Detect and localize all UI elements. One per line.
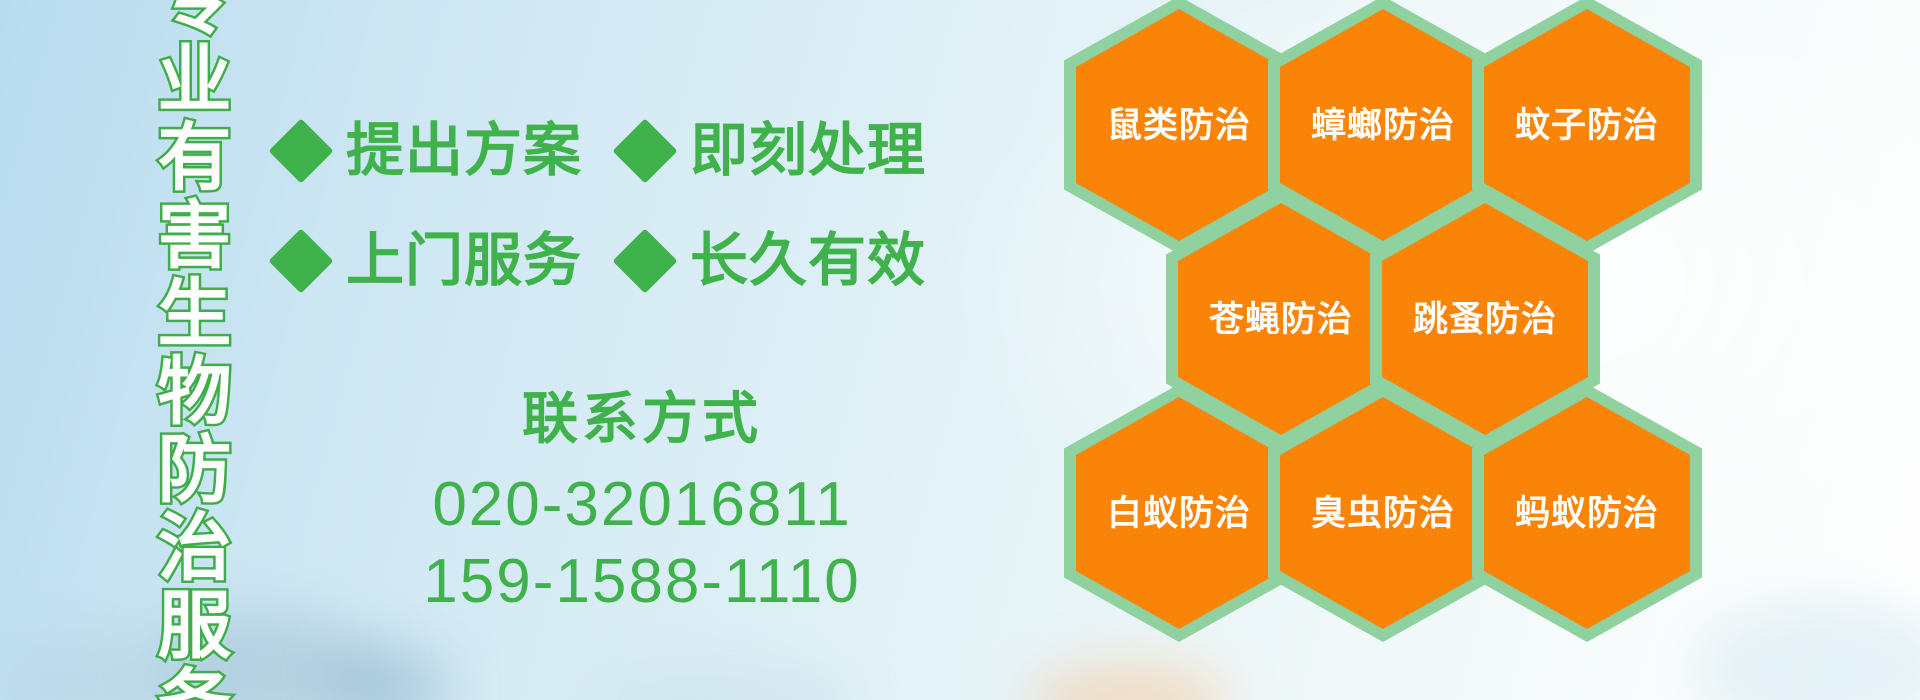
feature-item-long-lasting-effect: 长久有效 bbox=[622, 232, 926, 290]
service-label: 苍蝇防治 bbox=[1209, 302, 1353, 337]
feature-item-propose-plan: 提出方案 bbox=[278, 122, 582, 180]
hex-inner: 蟑螂防治 bbox=[1280, 9, 1486, 241]
feature-row-2: 上门服务 长久有效 bbox=[278, 206, 878, 316]
hex-inner: 鼠类防治 bbox=[1076, 9, 1282, 241]
feature-item-door-to-door-service: 上门服务 bbox=[278, 232, 582, 290]
service-label: 蟑螂防治 bbox=[1311, 108, 1455, 143]
feature-label: 长久有效 bbox=[690, 232, 926, 290]
hex-inner: 白蚁防治 bbox=[1076, 397, 1282, 629]
hex-inner: 蚊子防治 bbox=[1484, 9, 1690, 241]
feature-label: 上门服务 bbox=[346, 232, 582, 290]
diamond-icon bbox=[268, 228, 333, 293]
hex-inner: 苍蝇防治 bbox=[1178, 203, 1384, 435]
service-label: 蚂蚁防治 bbox=[1515, 496, 1659, 531]
contact-title: 联系方式 bbox=[352, 388, 932, 450]
background-bokeh-blob bbox=[330, 648, 450, 700]
service-label: 跳蚤防治 bbox=[1413, 302, 1557, 337]
diamond-icon bbox=[612, 228, 677, 293]
phone-mobile[interactable]: 159-1588-1110 bbox=[352, 543, 932, 621]
hex-inner: 臭虫防治 bbox=[1280, 397, 1486, 629]
feature-list: 提出方案 即刻处理 上门服务 长久有效 bbox=[278, 96, 878, 316]
diamond-icon bbox=[268, 118, 333, 183]
background-bokeh-blob bbox=[600, 668, 860, 700]
service-label: 臭虫防治 bbox=[1311, 496, 1455, 531]
vertical-headline: 专业有害生物防治服务 bbox=[118, 18, 226, 686]
service-honeycomb: 鼠类防治 蟑螂防治 蚊子防治 苍蝇防治 跳蚤防治 白蚁防治 bbox=[1064, 0, 1824, 700]
hex-inner: 跳蚤防治 bbox=[1382, 203, 1588, 435]
service-label: 蚊子防治 bbox=[1515, 108, 1659, 143]
phone-landline[interactable]: 020-32016811 bbox=[352, 466, 932, 544]
service-label: 鼠类防治 bbox=[1107, 108, 1251, 143]
feature-row-1: 提出方案 即刻处理 bbox=[278, 96, 878, 206]
feature-label: 即刻处理 bbox=[690, 122, 926, 180]
service-label: 白蚁防治 bbox=[1107, 496, 1251, 531]
pest-control-banner: 专业有害生物防治服务 提出方案 即刻处理 上门服务 长久有效 联系方式 0 bbox=[0, 0, 1920, 700]
contact-block: 联系方式 020-32016811 159-1588-1110 bbox=[352, 388, 932, 621]
diamond-icon bbox=[612, 118, 677, 183]
hex-inner: 蚂蚁防治 bbox=[1484, 397, 1690, 629]
feature-item-immediate-handling: 即刻处理 bbox=[622, 122, 926, 180]
feature-label: 提出方案 bbox=[346, 122, 582, 180]
